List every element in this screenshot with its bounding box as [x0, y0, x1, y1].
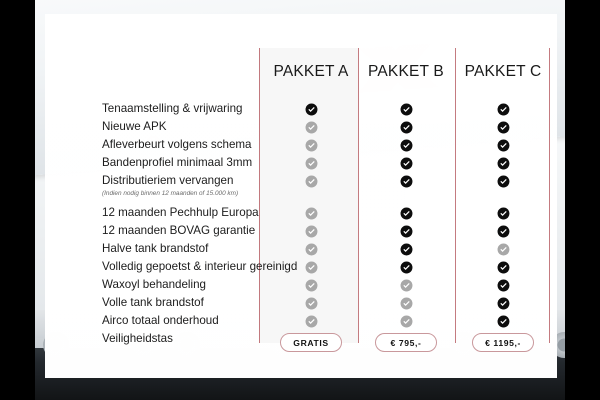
check-filled-icon [305, 103, 318, 116]
price-button-a[interactable]: GRATIS [280, 333, 342, 352]
feature-label: 12 maanden BOVAG garantie [102, 225, 255, 237]
check-filled-icon [497, 225, 510, 238]
check-filled-icon [497, 315, 510, 328]
feature-note: (Indien nodig binnen 12 maanden of 15.00… [102, 191, 238, 197]
feature-label: 12 maanden Pechhulp Europa [102, 207, 259, 219]
check-filled-icon [400, 175, 413, 188]
screenshot-stage: VAKGARAGE GIEL PAKKET APAKKET BPAKKET CT… [0, 0, 600, 400]
check-disabled-icon [305, 175, 318, 188]
check-filled-icon [400, 207, 413, 220]
column-divider-2 [358, 48, 359, 343]
check-filled-icon [400, 261, 413, 274]
card-content: PAKKET APAKKET BPAKKET CTenaamstelling &… [45, 14, 557, 378]
check-filled-icon [400, 121, 413, 134]
feature-label: Nieuwe APK [102, 121, 166, 133]
pricing-comparison-card: PAKKET APAKKET BPAKKET CTenaamstelling &… [45, 14, 557, 378]
check-disabled-icon [305, 297, 318, 310]
check-filled-icon [400, 103, 413, 116]
price-button-c[interactable]: € 1195,- [472, 333, 534, 352]
check-disabled-icon [305, 207, 318, 220]
feature-label: Halve tank brandstof [102, 243, 208, 255]
feature-label: Volledig gepoetst & interieur gereinigd [102, 261, 297, 273]
check-filled-icon [497, 121, 510, 134]
check-disabled-icon [497, 243, 510, 256]
check-disabled-icon [400, 279, 413, 292]
check-disabled-icon [305, 315, 318, 328]
feature-label: Tenaamstelling & vrijwaring [102, 103, 242, 115]
check-filled-icon [497, 139, 510, 152]
column-divider-4 [549, 48, 550, 343]
check-filled-icon [497, 261, 510, 274]
column-divider-1 [259, 48, 260, 343]
check-disabled-icon [305, 157, 318, 170]
check-disabled-icon [400, 315, 413, 328]
check-disabled-icon [400, 297, 413, 310]
feature-label: Distributieriem vervangen [102, 175, 233, 187]
column-header-c: PAKKET C [443, 63, 557, 81]
column-divider-3 [455, 48, 456, 343]
feature-label: Volle tank brandstof [102, 297, 204, 309]
check-filled-icon [497, 279, 510, 292]
feature-label: Waxoyl behandeling [102, 279, 206, 291]
price-button-b[interactable]: € 795,- [375, 333, 437, 352]
check-disabled-icon [305, 279, 318, 292]
check-filled-icon [400, 243, 413, 256]
check-filled-icon [497, 175, 510, 188]
check-disabled-icon [305, 225, 318, 238]
check-disabled-icon [305, 243, 318, 256]
check-filled-icon [400, 225, 413, 238]
check-disabled-icon [305, 121, 318, 134]
check-filled-icon [400, 157, 413, 170]
check-filled-icon [497, 103, 510, 116]
check-filled-icon [497, 157, 510, 170]
check-filled-icon [497, 297, 510, 310]
check-disabled-icon [305, 139, 318, 152]
feature-label: Afleverbeurt volgens schema [102, 139, 252, 151]
feature-label: Airco totaal onderhoud [102, 315, 219, 327]
check-filled-icon [400, 139, 413, 152]
check-disabled-icon [305, 261, 318, 274]
feature-label: Veiligheidstas [102, 333, 173, 345]
check-filled-icon [497, 207, 510, 220]
feature-label: Bandenprofiel minimaal 3mm [102, 157, 252, 169]
